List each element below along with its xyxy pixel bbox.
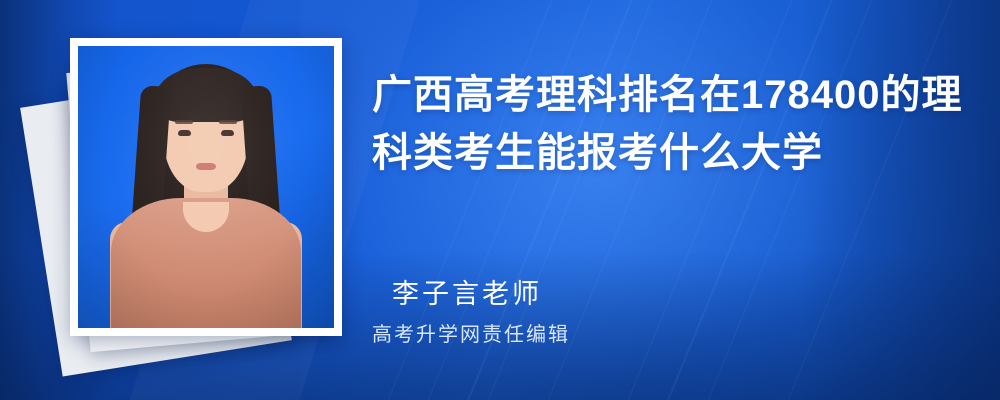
author-role: 高考升学网责任编辑: [372, 318, 570, 347]
author-name: 李子言老师: [392, 272, 542, 311]
photo-card-stack: [40, 38, 360, 368]
photo-card-front: [70, 38, 342, 336]
portrait-vignette: [78, 46, 334, 328]
banner-title: 广西高考理科排名在178400的理科类考生能报考什么大学: [372, 66, 972, 182]
author-portrait-photo: [78, 46, 334, 328]
banner-content: 广西高考理科排名在178400的理科类考生能报考什么大学 李子言老师 高考升学网…: [372, 0, 972, 400]
article-cover-banner: 广西高考理科排名在178400的理科类考生能报考什么大学 李子言老师 高考升学网…: [0, 0, 1000, 400]
